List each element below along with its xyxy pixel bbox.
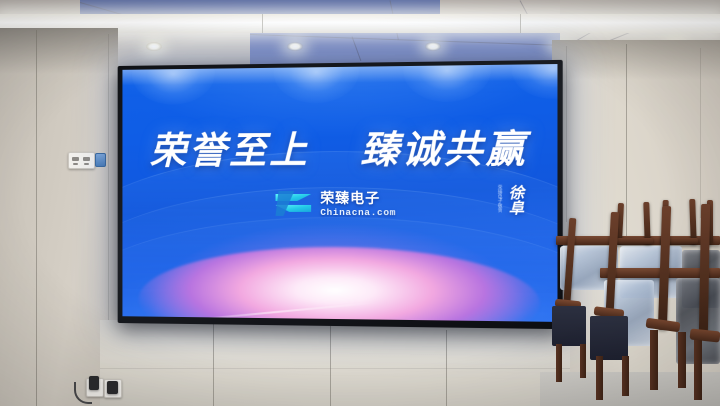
chair-leg: [650, 330, 658, 390]
wall-socket-panel[interactable]: [68, 152, 95, 169]
brand-name-cn: 荣臻电子: [320, 191, 396, 205]
wall-panel-seam: [213, 322, 214, 406]
chair-leg: [580, 344, 586, 378]
screen-surface: 荣誉至上 臻诚共赢: [122, 64, 557, 322]
chair-leg: [678, 332, 686, 388]
light-strip-seam: [262, 14, 263, 33]
wall-right-shadow: [552, 40, 720, 80]
slogan-part-1: 荣誉至上: [150, 130, 310, 172]
chair-leg: [694, 340, 702, 400]
signature-name: 徐阜: [506, 185, 522, 216]
ceiling-downlight: [287, 42, 303, 51]
brand-lockup: 荣臻电子 Chinacna.com: [122, 189, 557, 220]
chair-leg: [596, 356, 603, 400]
chair-seat: [590, 316, 628, 360]
chair-seat: [552, 306, 586, 346]
brand-text-block: 荣臻电子 Chinacna.com: [320, 191, 396, 218]
room-photo-scene: 荣誉至上 臻诚共赢: [0, 0, 720, 406]
power-plug-adapter: [107, 381, 118, 394]
chair-leg: [622, 356, 629, 396]
chair-back-rail: [617, 238, 653, 244]
signature-small-text: 荣臻电子敬贺: [498, 185, 503, 212]
wall-baseboard-line: [100, 368, 570, 369]
wall-panel-seam: [330, 326, 331, 406]
wall-panel-seam: [566, 46, 567, 222]
floor: [540, 372, 720, 406]
wall-panel-seam: [626, 44, 627, 244]
chair-leg: [556, 344, 562, 382]
wall-below-screen: [100, 320, 570, 406]
light-strip-seam: [520, 14, 521, 33]
wall-panel-seam: [700, 48, 701, 218]
chevron-arrow-logo-icon: [275, 189, 313, 219]
wall-left-shadow: [0, 28, 118, 74]
slogan-part-2: 臻诚共赢: [360, 129, 527, 172]
led-video-wall[interactable]: 荣誉至上 臻诚共赢: [118, 60, 563, 329]
ceiling-downlight: [146, 42, 162, 51]
ceiling-downlight: [425, 42, 441, 51]
wall-panel-seam: [36, 30, 37, 406]
calligraphy-signature: 荣臻电子敬贺 徐阜: [498, 185, 522, 216]
screen-slogan: 荣誉至上 臻诚共赢: [122, 117, 557, 174]
wall-socket-blue-module[interactable]: [95, 153, 106, 167]
brand-website: Chinacna.com: [320, 208, 396, 218]
